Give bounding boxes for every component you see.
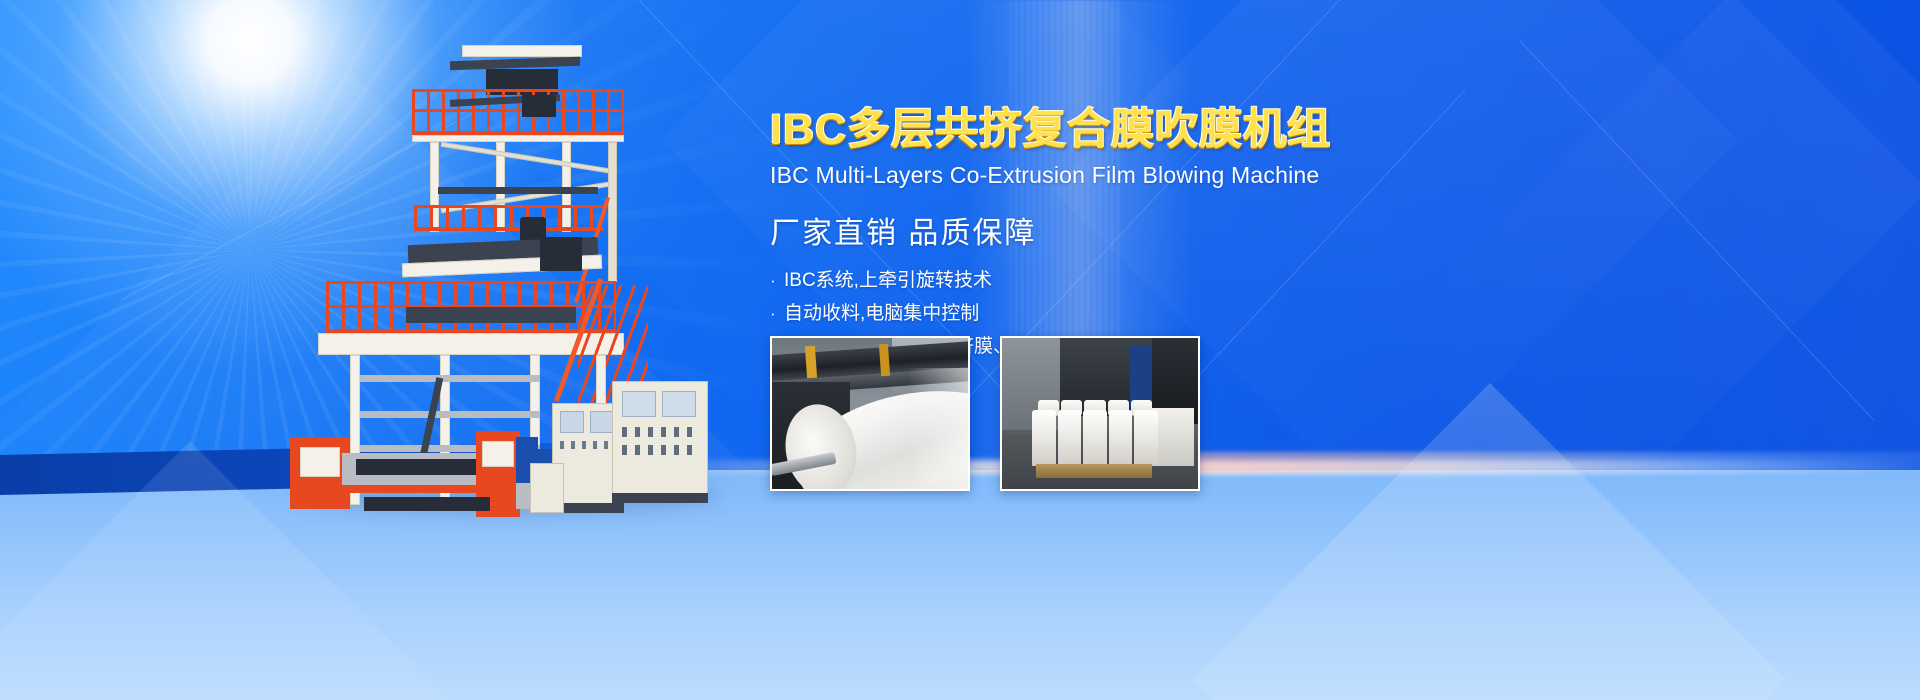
horizon-warm-streak bbox=[1170, 452, 1920, 472]
machine-cabinet1-screen-a bbox=[560, 411, 584, 433]
machine-winder-foot bbox=[364, 497, 490, 511]
photo2-pallet bbox=[1036, 464, 1152, 478]
photo1-highlight bbox=[908, 368, 968, 491]
machine-platform1-roller bbox=[406, 307, 576, 323]
machine-winder-left-panel bbox=[300, 447, 340, 477]
machine-brace-1 bbox=[441, 142, 610, 174]
page-subtitle: IBC Multi-Layers Co-Extrusion Film Blowi… bbox=[770, 160, 1470, 190]
machine-cabinet1-screen-b bbox=[590, 411, 614, 433]
machine-cabinet2-buttons-1 bbox=[622, 427, 696, 437]
photo1-roller-band-a bbox=[805, 346, 817, 379]
machine-extruder-motor bbox=[540, 237, 582, 271]
bullet-icon: · bbox=[770, 268, 784, 294]
machine-cabinet2-screen-a bbox=[622, 391, 656, 417]
ground-band bbox=[0, 470, 1920, 700]
list-item: ·自动收料,电脑集中控制 bbox=[770, 301, 1470, 327]
machine-leg-4 bbox=[608, 142, 617, 282]
machine-lower-beam-1 bbox=[360, 375, 540, 382]
list-item: ·IBC系统,上牵引旋转技术 bbox=[770, 268, 1470, 294]
machine-cabinet2-buttons-2 bbox=[622, 445, 696, 455]
product-photo-film-roll[interactable] bbox=[770, 336, 970, 491]
machine-lower-beam-2 bbox=[360, 411, 540, 418]
machine-illustration bbox=[290, 45, 730, 510]
photo2-roll-row-main bbox=[1032, 410, 1158, 466]
machine-platform3-deck bbox=[412, 135, 624, 142]
product-photo-pallet-rolls[interactable] bbox=[1000, 336, 1200, 491]
promo-banner: IBC多层共挤复合膜吹膜机组 IBC Multi-Layers Co-Extru… bbox=[0, 0, 1920, 700]
bullet-icon: · bbox=[770, 301, 784, 327]
machine-cabinet2-plinth bbox=[612, 493, 708, 503]
machine-platform2-balusters bbox=[414, 205, 604, 231]
product-photo-strip bbox=[770, 336, 1200, 491]
machine-small-cabinet bbox=[530, 463, 564, 513]
machine-cabinet2-screen-b bbox=[662, 391, 696, 417]
machine-mid-shaft bbox=[438, 187, 598, 194]
page-title: IBC多层共挤复合膜吹膜机组 bbox=[770, 104, 1470, 156]
machine-winder-roller bbox=[356, 459, 496, 475]
machine-platform1-balusters bbox=[326, 281, 616, 331]
machine-winder-right-panel bbox=[482, 441, 514, 467]
feature-text: IBC系统,上牵引旋转技术 bbox=[784, 270, 992, 291]
feature-text: 自动收料,电脑集中控制 bbox=[784, 303, 979, 324]
machine-top-beam bbox=[462, 45, 582, 57]
machine-cabinet1-buttons bbox=[560, 441, 616, 449]
slogan: 厂家直销 品质保障 bbox=[770, 214, 1470, 254]
machine-upper-motor bbox=[522, 95, 556, 117]
